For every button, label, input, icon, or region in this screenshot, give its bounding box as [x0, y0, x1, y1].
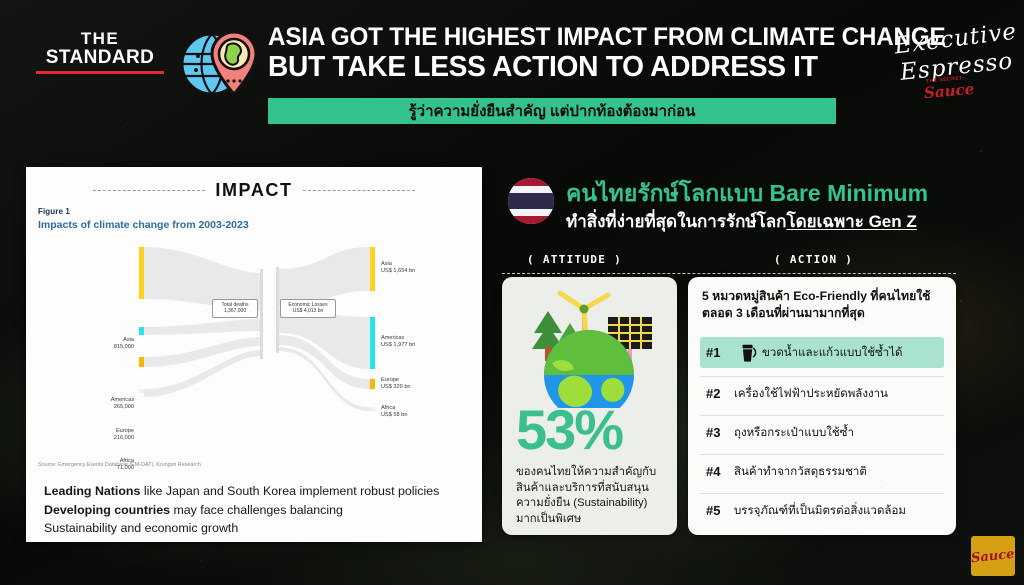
headline-line-2: BUT TAKE LESS ACTION TO ADDRESS IT [268, 52, 840, 83]
background-speckle [300, 540, 302, 542]
rank-item-1[interactable]: #1 ขวดน้ำและแก้วแบบใช้ซ้ำได้ [700, 337, 944, 368]
the-standard-logo: THE STANDARD [36, 30, 164, 74]
sankey-chart: Asia 815,000 Americas 265,000 Europe 216… [26, 239, 482, 439]
thailand-flag-icon [508, 178, 554, 224]
headline: ASIA GOT THE HIGHEST IMPACT FROM CLIMATE… [268, 24, 858, 83]
node-americas-losses [370, 317, 375, 369]
executive-espresso-logo: Executive Espresso THE SECRET Sauce [886, 18, 1006, 110]
brand-line-1: THE [36, 30, 164, 48]
rank-item-4[interactable]: #4 สินค้าทำจากวัสดุธรรมชาติ [700, 456, 944, 487]
background-speckle [960, 300, 962, 302]
takeaway-2-rest: may face challenges balancing [170, 503, 343, 517]
node-africa-losses [370, 407, 375, 411]
node-economic-losses [276, 267, 279, 353]
brand-line-2: STANDARD [36, 48, 164, 68]
secret-sauce-badge-text: Sauce [971, 546, 1016, 565]
subtitle-plain: ทำสิ่งที่ง่ายที่สุดในการรักษ์โลก [566, 212, 786, 231]
background-speckle [980, 150, 982, 152]
node-americas-deaths [139, 327, 144, 335]
label-total-deaths: Total deaths 1,367,000 [212, 299, 258, 318]
label-asia-deaths: Asia 815,000 [72, 337, 134, 351]
sankey-links-left [144, 247, 262, 397]
node-total-deaths [260, 269, 263, 359]
sustainable-earth-icon [512, 283, 667, 408]
node-asia-deaths [139, 247, 144, 299]
background-speckle [540, 470, 542, 472]
headline-line-1: ASIA GOT THE HIGHEST IMPACT FROM CLIMATE… [268, 24, 840, 51]
background-speckle [720, 250, 721, 251]
action-heading: 5 หมวดหมู่สินค้า Eco-Friendly ที่คนไทยใช… [702, 288, 946, 321]
divider-right [303, 190, 415, 191]
subtitle-underline: โดยเฉพาะ Gen Z [786, 212, 916, 231]
figure-caption: Impacts of climate change from 2003-2023 [38, 219, 249, 231]
rank-item-3[interactable]: #3 ถุงหรือกระเป๋าแบบใช้ซ้ำ [700, 417, 944, 448]
right-panel-title: คนไทยรักษ์โลกแบบ Bare Minimum [566, 176, 928, 212]
rank-item-5[interactable]: #5 บรรจุภัณฑ์ที่เป็นมิตรต่อสิ่งแวดล้อม [700, 495, 944, 526]
rank-4-text: สินค้าทำจากวัสดุธรรมชาติ [734, 463, 867, 481]
attitude-card: 53% ของคนไทยให้ความสำคัญกับสินค้าและบริก… [502, 277, 677, 535]
figure-label: Figure 1 [38, 207, 70, 216]
node-africa-deaths [139, 389, 144, 393]
takeaway-3: Sustainability and economic growth [44, 519, 470, 538]
rank-3-number: #3 [700, 425, 734, 440]
takeaway-3-rest: Sustainability and economic growth [44, 521, 238, 535]
rank-divider-2 [700, 415, 944, 416]
label-americas-losses: Americas US$ 1,977 bn [381, 335, 461, 349]
right-panel-subtitle: ทำสิ่งที่ง่ายที่สุดในการรักษ์โลกโดยเฉพาะ… [566, 208, 917, 235]
rank-divider-3 [700, 454, 944, 455]
rank-1-number: #1 [700, 345, 734, 360]
rank-4-number: #4 [700, 464, 734, 479]
takeaway-1-rest: like Japan and South Korea implement rob… [140, 484, 439, 498]
node-europe-deaths [139, 357, 144, 367]
globe-pin-icon [176, 22, 262, 108]
rank-1-text: ขวดน้ำและแก้วแบบใช้ซ้ำได้ [762, 344, 903, 362]
takeaway-2: Developing countries may face challenges… [44, 501, 470, 520]
background-speckle [460, 30, 462, 32]
rank-5-number: #5 [700, 503, 734, 518]
label-americas-deaths: Americas 265,000 [68, 397, 134, 411]
background-speckle [880, 480, 882, 482]
header-bar: THE STANDARD ASIA GOT THE HIGHEST IMPACT… [0, 0, 1024, 140]
reusable-tumbler-icon [734, 342, 762, 364]
background-speckle [200, 560, 201, 561]
attitude-section-label: ( ATTITUDE ) [527, 253, 622, 266]
rank-3-text: ถุงหรือกระเป๋าแบบใช้ซ้ำ [734, 424, 854, 442]
label-asia-losses: Asia US$ 1,654 bn [381, 261, 461, 275]
rank-divider-1 [700, 376, 944, 377]
rank-5-text: บรรจุภัณฑ์ที่เป็นมิตรต่อสิ่งแวดล้อม [734, 502, 906, 520]
chart-source: Source: Emergency Events Database (EM-DA… [38, 462, 201, 468]
section-divider [502, 273, 956, 274]
headline-subbar: รู้ว่าความยั่งยืนสำคัญ แต่ปากท้องต้องมาก… [268, 98, 836, 124]
node-europe-losses [370, 379, 375, 389]
takeaway-2-bold: Developing countries [44, 503, 170, 517]
key-takeaways: Leading Nations like Japan and South Kor… [44, 482, 470, 538]
takeaway-1: Leading Nations like Japan and South Kor… [44, 482, 470, 501]
attitude-percent: 53% [516, 402, 622, 458]
rank-2-number: #2 [700, 386, 734, 401]
impact-title-row: IMPACT [26, 177, 482, 203]
action-section-label: ( ACTION ) [774, 253, 853, 266]
infographic-canvas: THE STANDARD ASIA GOT THE HIGHEST IMPACT… [0, 0, 1024, 585]
brand-underline [36, 71, 164, 74]
rank-2-text: เครื่องใช้ไฟฟ้าประหยัดพลังงาน [734, 385, 888, 403]
attitude-description: ของคนไทยให้ความสำคัญกับสินค้าและบริการที… [516, 465, 668, 527]
secret-sauce-badge: Sauce [971, 536, 1015, 576]
impact-chart-card: IMPACT Figure 1 Impacts of climate chang… [26, 167, 482, 542]
divider-left [93, 190, 205, 191]
impact-title: IMPACT [215, 180, 292, 201]
label-africa-losses: Africa US$ 58 bn [381, 405, 461, 419]
label-economic-losses: Economic Losses US$ 4,013 bn [280, 299, 336, 318]
background-speckle [640, 60, 642, 62]
secret-sauce-wordmark: Sauce [923, 80, 975, 102]
node-asia-losses [370, 247, 375, 291]
takeaway-1-bold: Leading Nations [44, 484, 140, 498]
label-europe-losses: Europe US$ 329 bn [381, 377, 461, 391]
sankey-links-right [278, 247, 370, 411]
label-europe-deaths: Europe 216,000 [70, 428, 134, 442]
rank-item-2[interactable]: #2 เครื่องใช้ไฟฟ้าประหยัดพลังงาน [700, 378, 944, 409]
rank-divider-4 [700, 493, 944, 494]
action-card: 5 หมวดหมู่สินค้า Eco-Friendly ที่คนไทยใช… [688, 277, 956, 535]
